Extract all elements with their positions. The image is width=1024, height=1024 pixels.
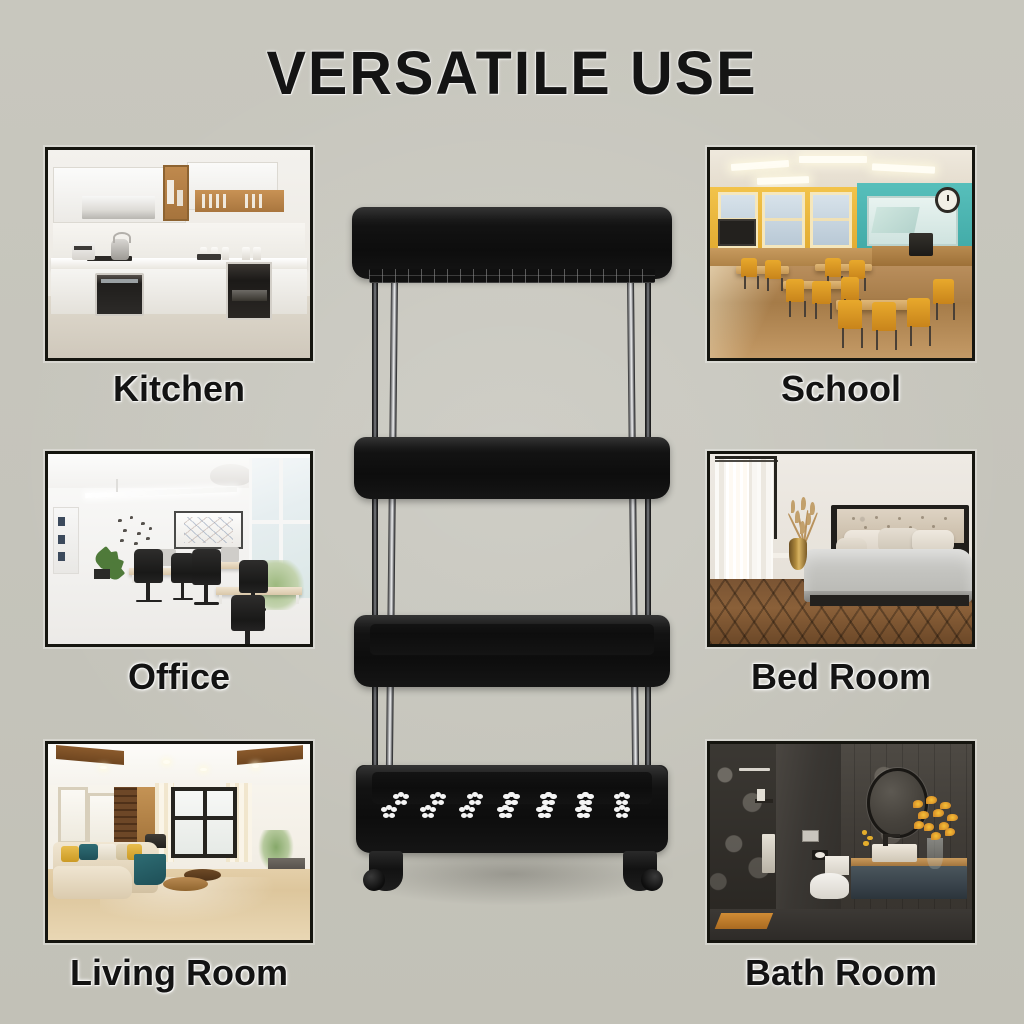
photo-cell-livingroom: Living Room	[45, 741, 313, 943]
page-title: VERSATILE USE	[15, 41, 1008, 105]
photo-school	[710, 150, 972, 358]
photo-livingroom	[48, 744, 310, 940]
photo-cell-bedroom: Bed Room	[707, 451, 975, 647]
caption-bedroom: Bed Room	[751, 657, 931, 697]
photo-cell-bathroom: Bath Room	[707, 741, 975, 943]
photo-bathroom	[710, 744, 972, 940]
photo-frame-bathroom	[707, 741, 975, 943]
caption-kitchen: Kitchen	[113, 369, 245, 409]
caption-office: Office	[128, 657, 230, 697]
photo-office	[48, 454, 310, 644]
caption-school: School	[781, 369, 901, 409]
cart-caster-left	[369, 851, 403, 891]
cart-tier-1-mesh	[369, 269, 655, 283]
cart-drain-holes-row-2	[381, 805, 631, 820]
cart-caster-right	[623, 851, 657, 891]
photo-cell-office: Office	[45, 451, 313, 647]
caption-bathroom: Bath Room	[745, 953, 937, 993]
photo-frame-livingroom	[45, 741, 313, 943]
photo-cell-school: School	[707, 147, 975, 361]
caption-livingroom: Living Room	[70, 953, 288, 993]
photo-frame-kitchen	[45, 147, 313, 361]
photo-frame-office	[45, 451, 313, 647]
photo-frame-school	[707, 147, 975, 361]
photo-kitchen	[48, 150, 310, 358]
photo-cell-kitchen: Kitchen	[45, 147, 313, 361]
photo-frame-bedroom	[707, 451, 975, 647]
product-cart	[345, 195, 679, 900]
cart-tier-2	[354, 437, 670, 499]
cart-tier-3	[354, 615, 670, 687]
photo-bedroom	[710, 454, 972, 644]
